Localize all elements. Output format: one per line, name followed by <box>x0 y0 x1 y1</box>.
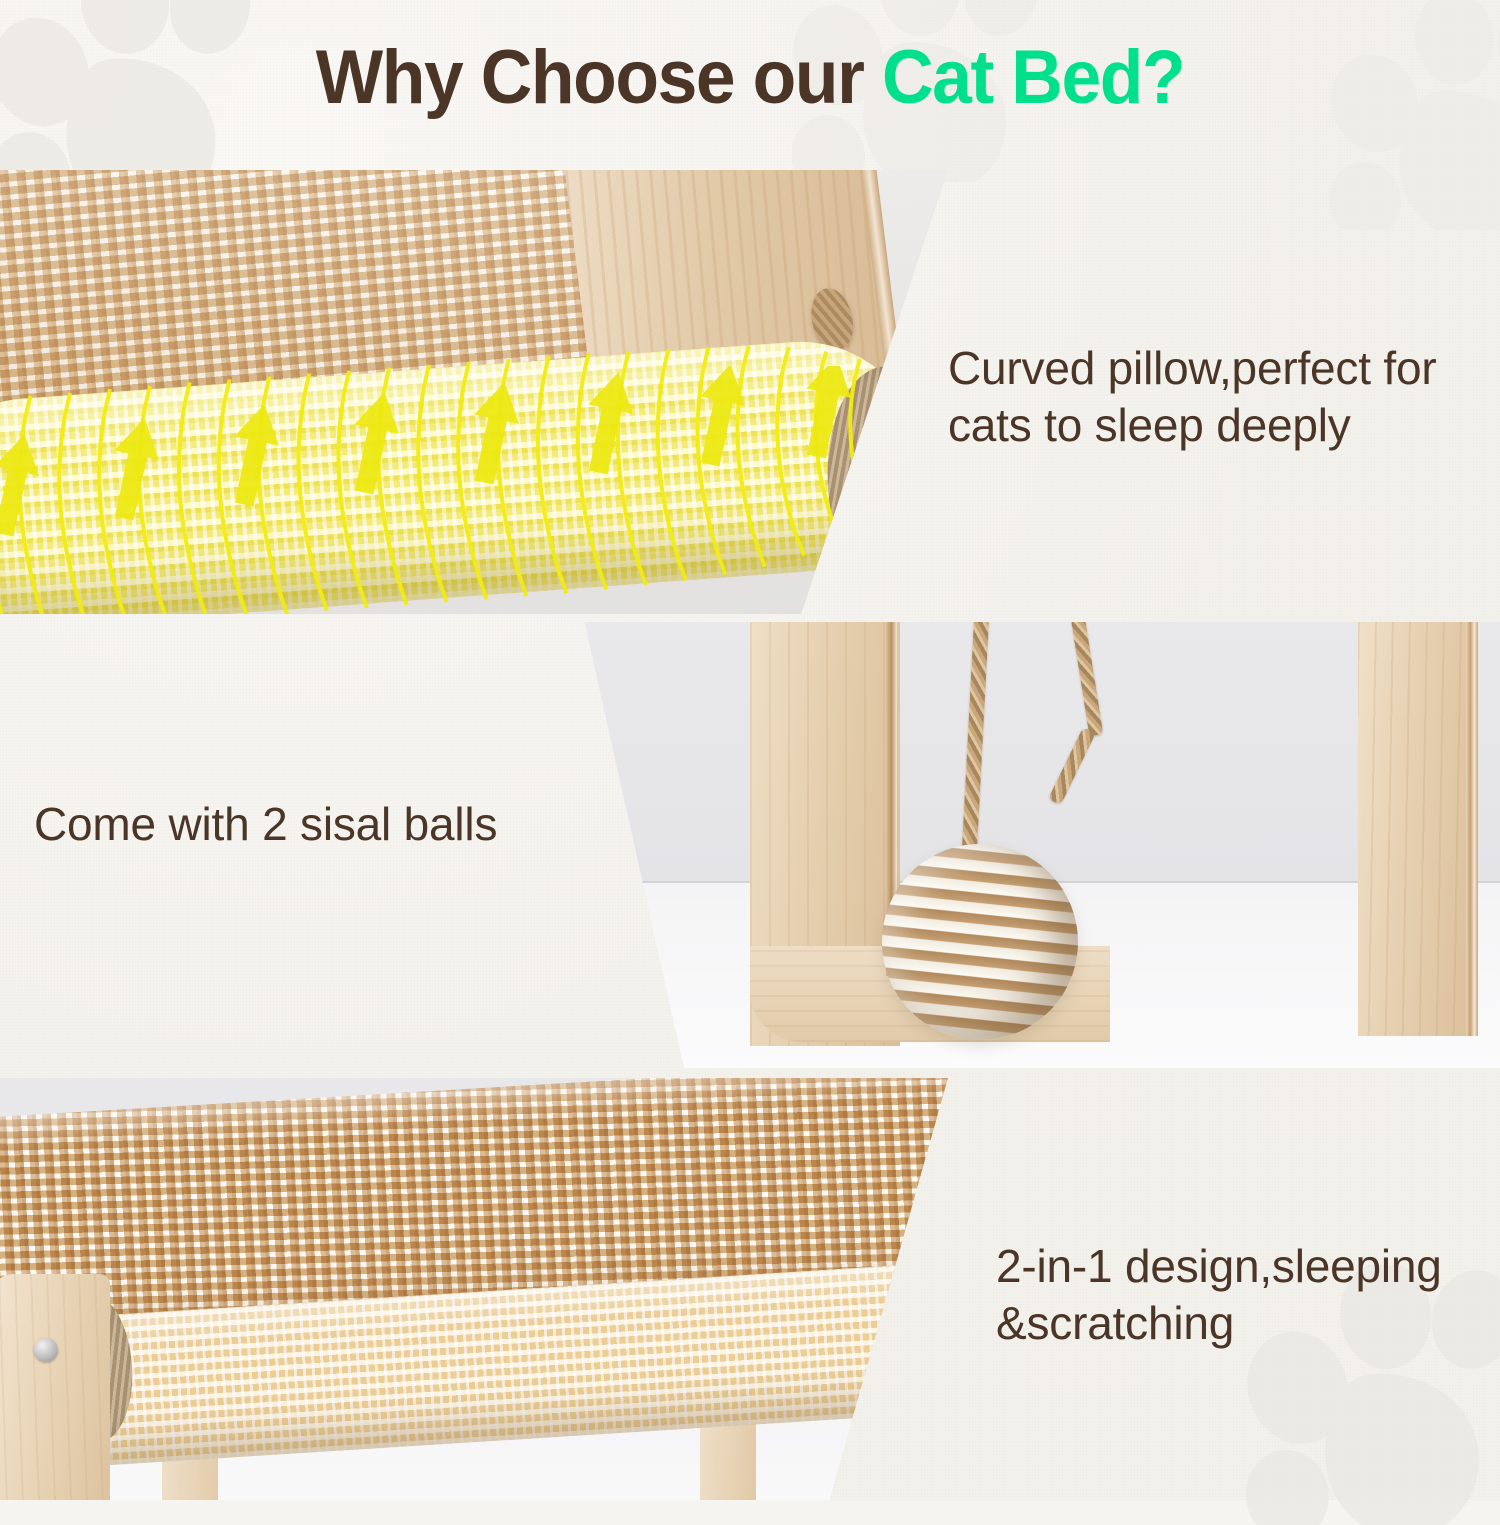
airflow-arrow-overlay <box>0 366 948 566</box>
feature-photo-curved-pillow <box>0 170 948 614</box>
arrow-icon <box>0 429 47 539</box>
caption-line: Come with 2 sisal balls <box>34 796 574 853</box>
arrow-icon <box>341 387 407 497</box>
sisal-ball-toy <box>882 844 1078 1040</box>
arrow-icon <box>461 377 527 487</box>
arrow-icon <box>793 366 859 461</box>
page-title-text: Why Choose our Cat Bed? <box>316 34 1185 121</box>
screw-icon <box>34 1338 58 1362</box>
arrow-icon <box>575 367 641 477</box>
arrow-icon <box>221 399 287 509</box>
page-title-accent: Cat Bed? <box>882 35 1184 120</box>
feature-photo-2-in-1 <box>0 1078 948 1500</box>
caption-line: Curved pillow,perfect for <box>948 340 1488 397</box>
arrow-icon <box>687 366 753 469</box>
caption-line: cats to sleep deeply <box>948 397 1488 454</box>
caption-line: &scratching <box>996 1295 1496 1352</box>
plywood-edge <box>1466 622 1478 1036</box>
page-title: Why Choose our Cat Bed? <box>0 22 1500 132</box>
feature-caption-curved-pillow: Curved pillow,perfect for cats to sleep … <box>948 340 1488 454</box>
photo-curved-pillow <box>0 170 948 614</box>
wooden-frame-side <box>0 1274 110 1500</box>
photo-sisal-ball <box>560 622 1500 1068</box>
photo-2-in-1-bed <box>0 1078 948 1500</box>
wooden-frame-post <box>1358 622 1470 1036</box>
feature-photo-sisal-balls <box>560 622 1500 1068</box>
page-title-plain: Why Choose our <box>316 35 882 120</box>
feature-caption-sisal-balls: Come with 2 sisal balls <box>34 796 574 853</box>
caption-line: 2-in-1 design,sleeping <box>996 1238 1496 1295</box>
arrow-icon <box>101 413 167 523</box>
feature-caption-2-in-1: 2-in-1 design,sleeping &scratching <box>996 1238 1496 1352</box>
